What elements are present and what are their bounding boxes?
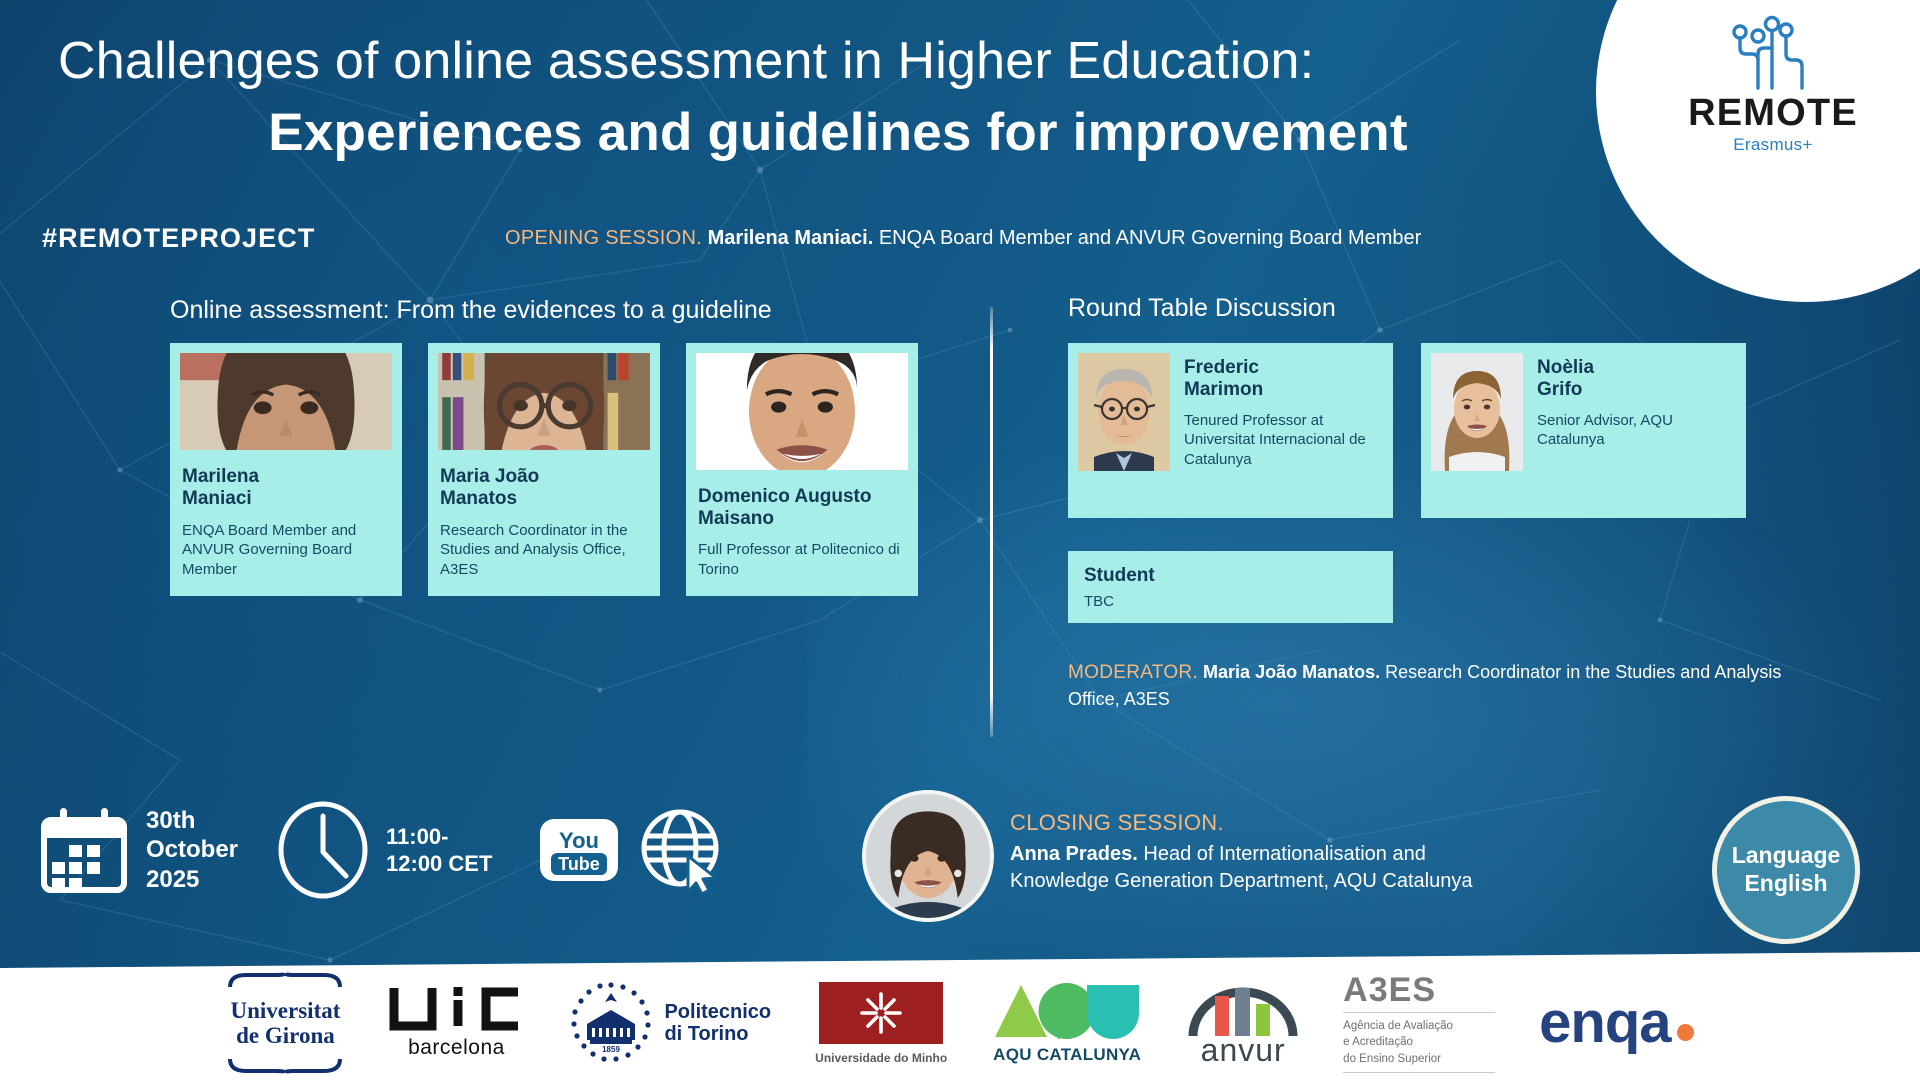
minho-caption: Universidade do Minho xyxy=(815,1051,947,1065)
circuit-nodes-icon xyxy=(1714,14,1832,92)
panelist-role: Tenured Professor at Universitat Interna… xyxy=(1184,411,1383,470)
closing-session-block: CLOSING SESSION. Anna Prades. Head of In… xyxy=(1010,808,1800,895)
speaker-name: Maria João Manatos xyxy=(440,466,648,511)
partner-logo-aqu-catalunya: AQU CATALUNYA xyxy=(991,981,1143,1065)
roundtable-card: Noèlia Grifo Senior Advisor, AQU Catalun… xyxy=(1421,343,1746,518)
section-heading-left: Online assessment: From the evidences to… xyxy=(170,296,772,325)
event-info-bar: 30th October 2025 11:00- 12:00 CET You T… xyxy=(38,800,726,900)
panelist-name: Noèlia Grifo xyxy=(1537,357,1736,402)
closing-speaker-photo-anna-prades xyxy=(862,790,994,922)
clock-icon xyxy=(276,800,370,900)
event-time: 11:00- 12:00 CET xyxy=(386,823,492,878)
udg-brace-bottom-icon xyxy=(226,1058,344,1074)
minho-mark-icon xyxy=(819,982,943,1044)
partner-logo-a3es: A3ES Agência de Avaliação e Acreditação … xyxy=(1343,973,1495,1073)
speaker-role: ENQA Board Member and ANVUR Governing Bo… xyxy=(182,521,390,580)
moderator-label: MODERATOR. xyxy=(1068,662,1198,683)
opening-session-label: OPENING SESSION. xyxy=(505,227,702,249)
student-status: TBC xyxy=(1084,593,1393,610)
vertical-divider xyxy=(990,307,993,737)
speaker-card-list: Marilena Maniaci ENQA Board Member and A… xyxy=(170,343,918,596)
moderator-line: MODERATOR. Maria João Manatos. Research … xyxy=(1068,660,1788,713)
a3es-rule-top xyxy=(1343,1012,1495,1013)
panelist-photo-frederic-marimon xyxy=(1078,353,1170,471)
youtube-icon[interactable]: You Tube xyxy=(538,809,620,891)
speaker-photo-marilena-maniaci xyxy=(180,353,392,450)
partner-logo-politecnico-di-torino: 1859 Politecnico di Torino xyxy=(568,980,771,1066)
panelist-role: Senior Advisor, AQU Catalunya xyxy=(1537,411,1736,450)
speaker-name: Domenico Augusto Maisano xyxy=(698,486,906,531)
webinar-poster: REMOTE Erasmus+ Challenges of online ass… xyxy=(0,0,1920,1080)
partner-logo-universidade-do-minho: Universidade do Minho xyxy=(815,982,947,1065)
enqa-wordmark: enqa xyxy=(1539,1000,1670,1046)
anvur-mark-icon xyxy=(1187,982,1299,1038)
language-badge-label: Language xyxy=(1732,842,1841,870)
udg-wordmark: Universitat de Girona xyxy=(231,988,341,1059)
event-date: 30th October 2025 xyxy=(146,806,238,894)
speaker-role: Research Coordinator in the Studies and … xyxy=(440,521,648,580)
closing-session-label: CLOSING SESSION. xyxy=(1010,808,1800,838)
opening-session-line: OPENING SESSION. Marilena Maniaci. ENQA … xyxy=(505,227,1421,250)
enqa-dot-icon xyxy=(1677,1024,1694,1041)
roundtable-card-list: Frederic Marimon Tenured Professor at Un… xyxy=(1068,343,1746,518)
closing-session-body: Anna Prades. Head of Internationalisatio… xyxy=(1010,841,1800,895)
uic-subtitle: barcelona xyxy=(408,1036,505,1060)
a3es-wordmark: A3ES xyxy=(1343,973,1436,1007)
aqu-mark-icon xyxy=(991,981,1143,1039)
speaker-role: Full Professor at Politecnico di Torino xyxy=(698,540,906,580)
closing-session-role-line1: Head of Internationalisation and xyxy=(1143,843,1425,865)
svg-text:Tube: Tube xyxy=(559,854,601,874)
moderator-name: Maria João Manatos. xyxy=(1203,662,1380,682)
closing-session-name: Anna Prades. xyxy=(1010,843,1138,865)
page-title-line2: Experiences and guidelines for improveme… xyxy=(58,104,1618,161)
remote-logo: REMOTE Erasmus+ xyxy=(1648,14,1898,184)
polito-year: 1859 xyxy=(603,1045,621,1054)
polito-wordmark: Politecnico di Torino xyxy=(664,1001,771,1046)
svg-text:You: You xyxy=(559,828,599,853)
opening-session-role: ENQA Board Member and ANVUR Governing Bo… xyxy=(879,227,1421,249)
page-title-line1: Challenges of online assessment in Highe… xyxy=(58,33,1618,89)
anvur-caption: anvur xyxy=(1201,1036,1286,1065)
hashtag: #REMOTEPROJECT xyxy=(42,223,315,254)
speaker-name: Marilena Maniaci xyxy=(182,466,390,511)
language-badge-value: English xyxy=(1744,870,1827,898)
globe-cursor-icon[interactable] xyxy=(638,806,726,894)
polito-seal-icon: 1859 xyxy=(568,980,654,1066)
udg-brace-top-icon xyxy=(226,972,344,988)
opening-session-name: Marilena Maniaci. xyxy=(708,227,874,249)
student-card: Student TBC xyxy=(1068,551,1393,623)
panelist-name: Frederic Marimon xyxy=(1184,357,1383,402)
calendar-icon xyxy=(38,804,130,896)
aqu-caption: AQU CATALUNYA xyxy=(993,1045,1141,1065)
section-heading-right: Round Table Discussion xyxy=(1068,294,1336,323)
partner-logo-universitat-de-girona: Universitat de Girona xyxy=(226,972,344,1075)
panelist-photo-noelia-grifo xyxy=(1431,353,1523,471)
speaker-photo-domenico-augusto-maisano xyxy=(696,353,908,470)
partner-logo-enqa: enqa xyxy=(1539,1000,1693,1046)
roundtable-card: Frederic Marimon Tenured Professor at Un… xyxy=(1068,343,1393,518)
a3es-tagline: Agência de Avaliação e Acreditação do En… xyxy=(1343,1018,1453,1067)
a3es-rule-bottom xyxy=(1343,1072,1495,1073)
language-badge: Language English xyxy=(1712,796,1860,944)
speaker-card: Domenico Augusto Maisano Full Professor … xyxy=(686,343,918,596)
partner-logo-uic-barcelona: barcelona xyxy=(388,986,524,1060)
student-label: Student xyxy=(1084,565,1393,587)
logo-wordmark: REMOTE xyxy=(1688,94,1858,132)
partner-logo-anvur: anvur xyxy=(1187,982,1299,1065)
speaker-photo-maria-joao-manatos xyxy=(438,353,650,450)
closing-session-role-line2: Knowledge Generation Department, AQU Cat… xyxy=(1010,870,1473,892)
partner-logo-strip: Universitat de Girona barcelona xyxy=(0,952,1920,1080)
uic-mark-icon xyxy=(388,986,524,1032)
logo-subtitle: Erasmus+ xyxy=(1733,135,1812,155)
speaker-card: Maria João Manatos Research Coordinator … xyxy=(428,343,660,596)
speaker-card: Marilena Maniaci ENQA Board Member and A… xyxy=(170,343,402,596)
